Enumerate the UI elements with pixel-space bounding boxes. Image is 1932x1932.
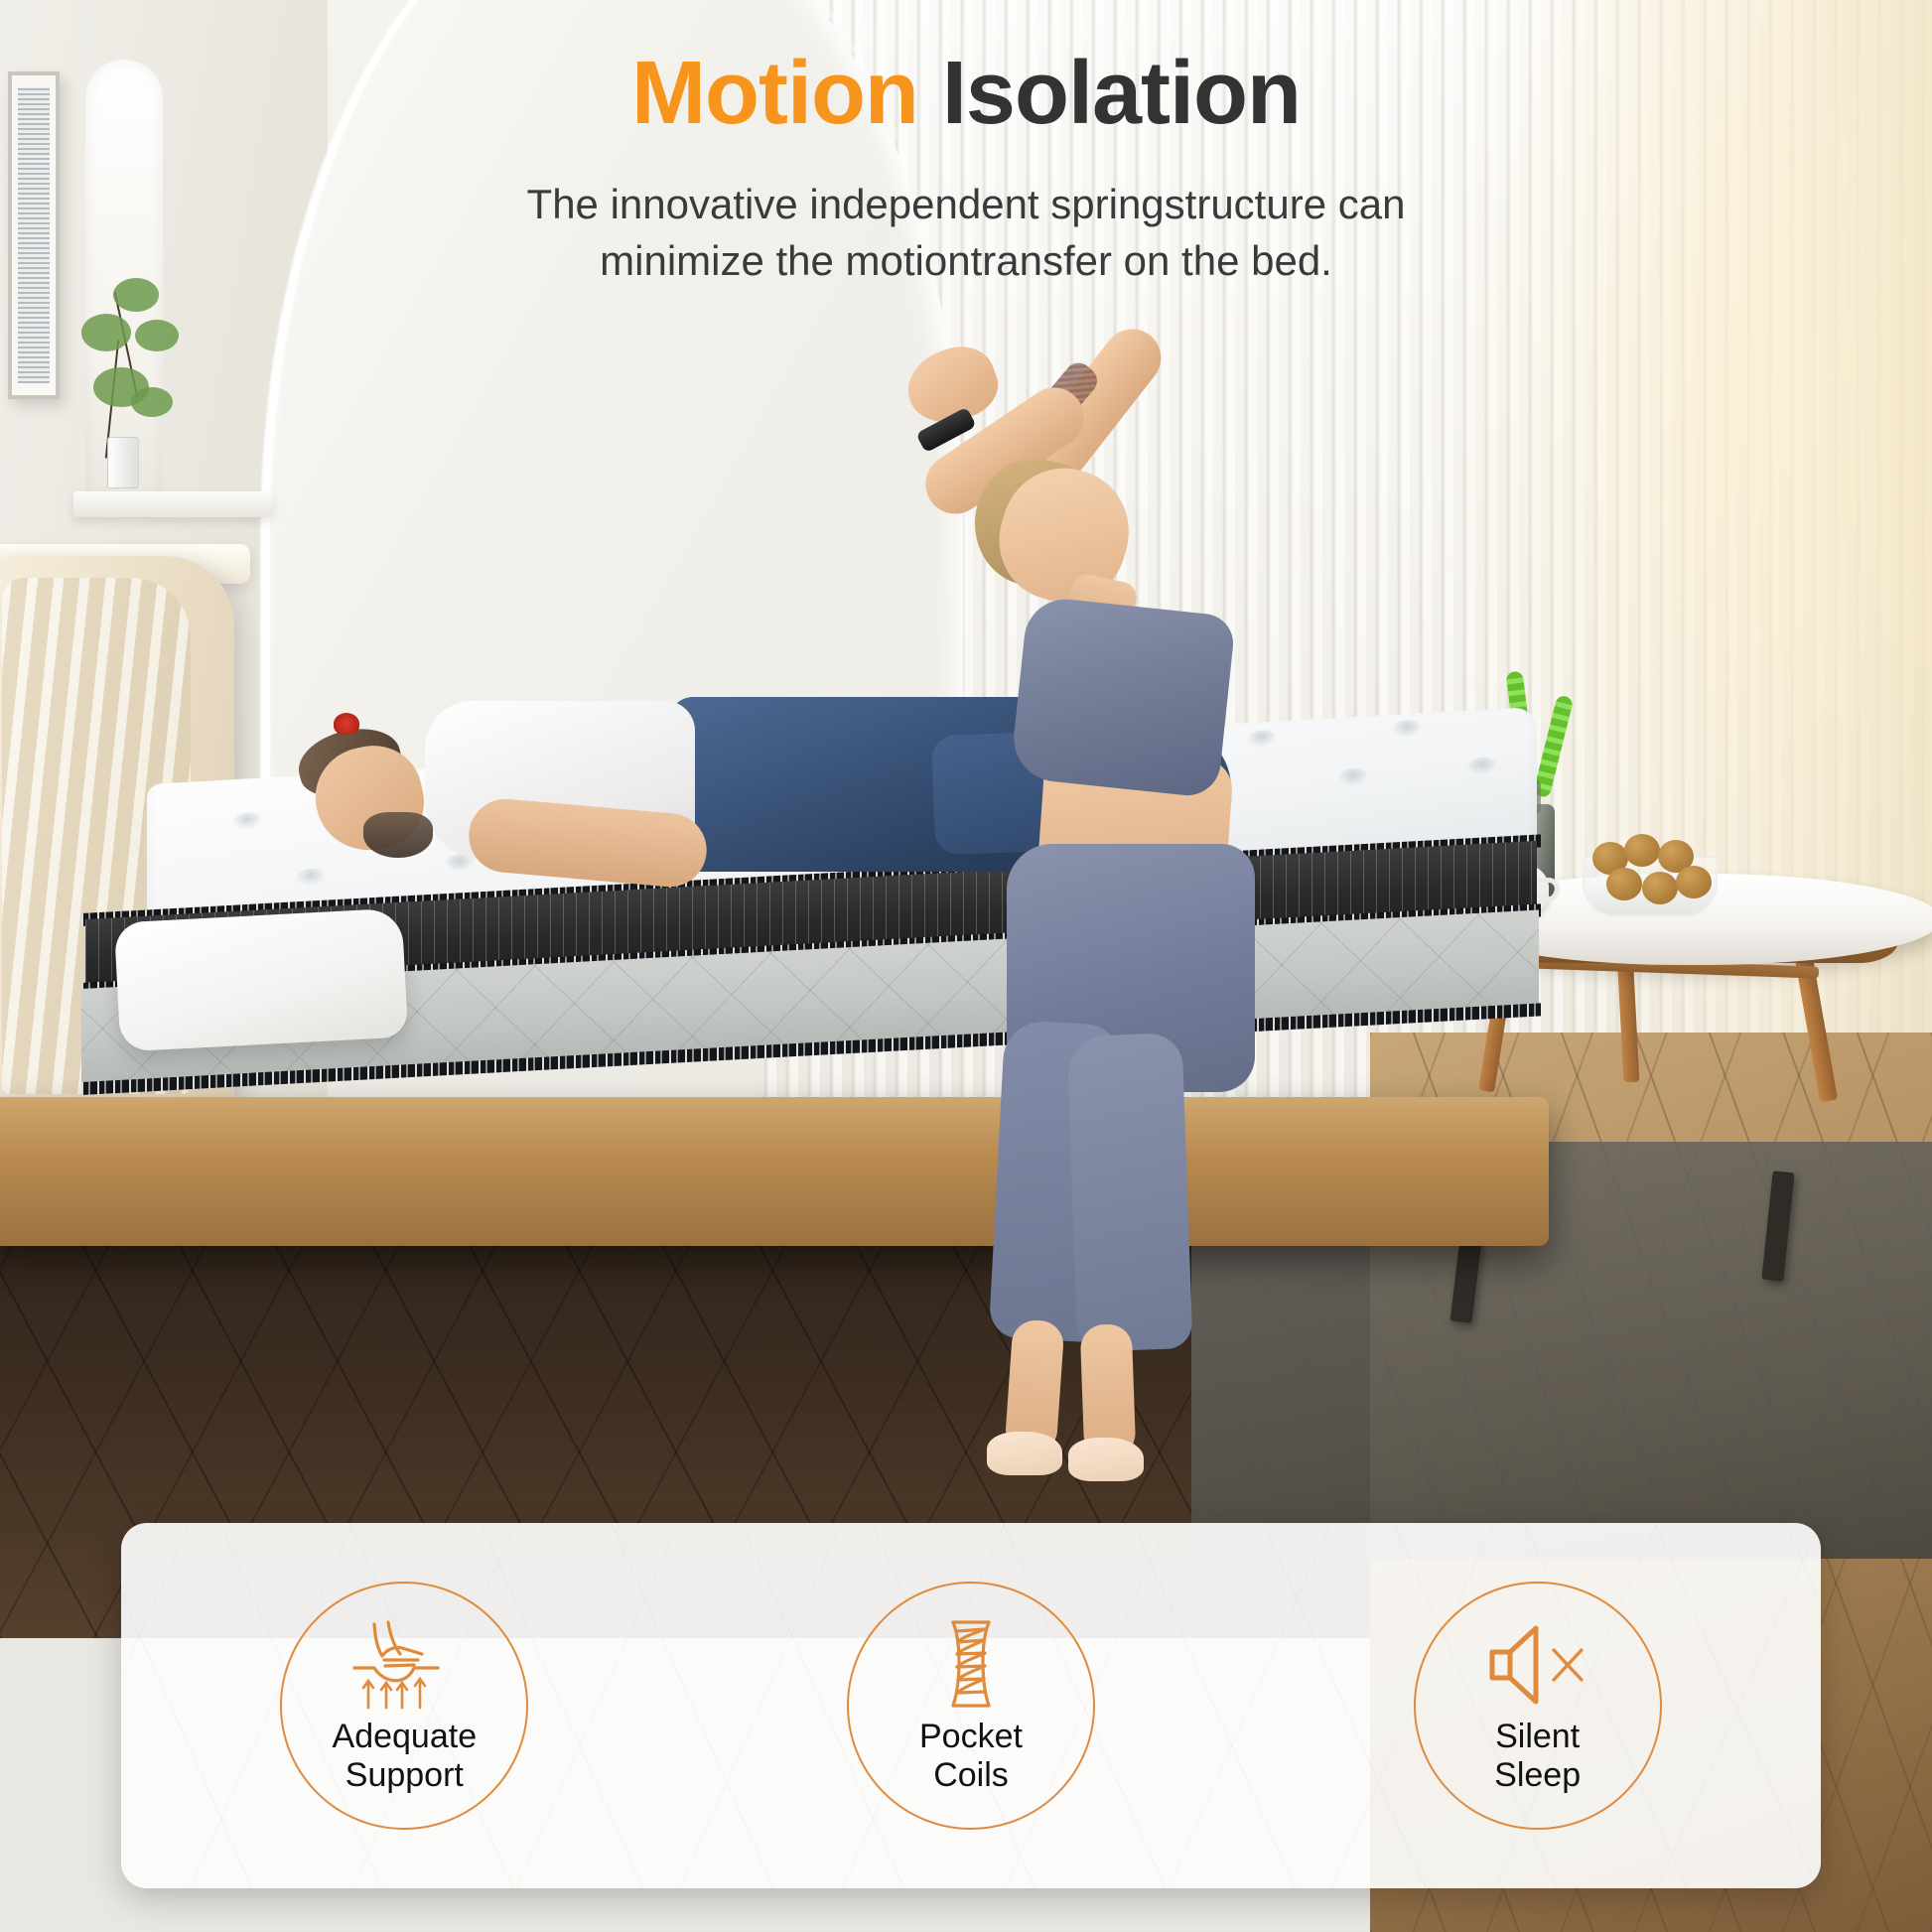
feature-badge-label: Silent Sleep [1494,1718,1581,1796]
subtitle-line-2: minimize the motiontransfer on the bed. [370,233,1562,290]
sleeping-man [248,635,1033,933]
feature-label-line-2: Sleep [1494,1756,1581,1794]
teapot-handle [1538,878,1560,901]
glass-vase [107,437,139,488]
pocket-coil-spring-icon [911,1616,1031,1712]
glass-fruit-bowl [1583,856,1718,917]
feature-label-line-2: Coils [933,1756,1009,1794]
headline-accent-word: Motion [631,44,918,143]
woman-foot [987,1432,1062,1475]
feature-label-line-1: Silent [1495,1718,1580,1755]
window-ledge [73,491,272,517]
man-beard [363,812,433,858]
stretching-woman [923,328,1340,1291]
hand-press-support-icon [345,1616,464,1712]
subtitle-line-1: The innovative independent springstructu… [370,177,1562,233]
feature-label-line-2: Support [345,1756,464,1794]
alcove-plant-icon [73,260,193,459]
muted-speaker-icon [1478,1616,1597,1712]
page-title: Motion Isolation [0,48,1932,141]
red-flower [334,713,359,735]
feature-badge-label: Pocket Coils [919,1718,1023,1796]
feature-label-line-1: Pocket [919,1718,1023,1755]
woman-leg [1066,1033,1192,1352]
feature-badge-label: Adequate Support [333,1718,478,1796]
product-feature-image: Motion Isolation The innovative independ… [0,0,1932,1932]
feature-badge-adequate-support[interactable]: Adequate Support [280,1582,528,1830]
woman-sports-bra [1010,596,1236,799]
feature-label-line-1: Adequate [333,1718,478,1755]
page-subtitle: The innovative independent springstructu… [370,177,1562,289]
feature-badge-pocket-coils[interactable]: Pocket Coils [847,1582,1095,1830]
feature-badge-silent-sleep[interactable]: Silent Sleep [1414,1582,1662,1830]
woman-foot [1068,1438,1144,1481]
headline-main-word: Isolation [942,44,1301,143]
feature-badge-panel: Adequate Support [121,1523,1821,1888]
